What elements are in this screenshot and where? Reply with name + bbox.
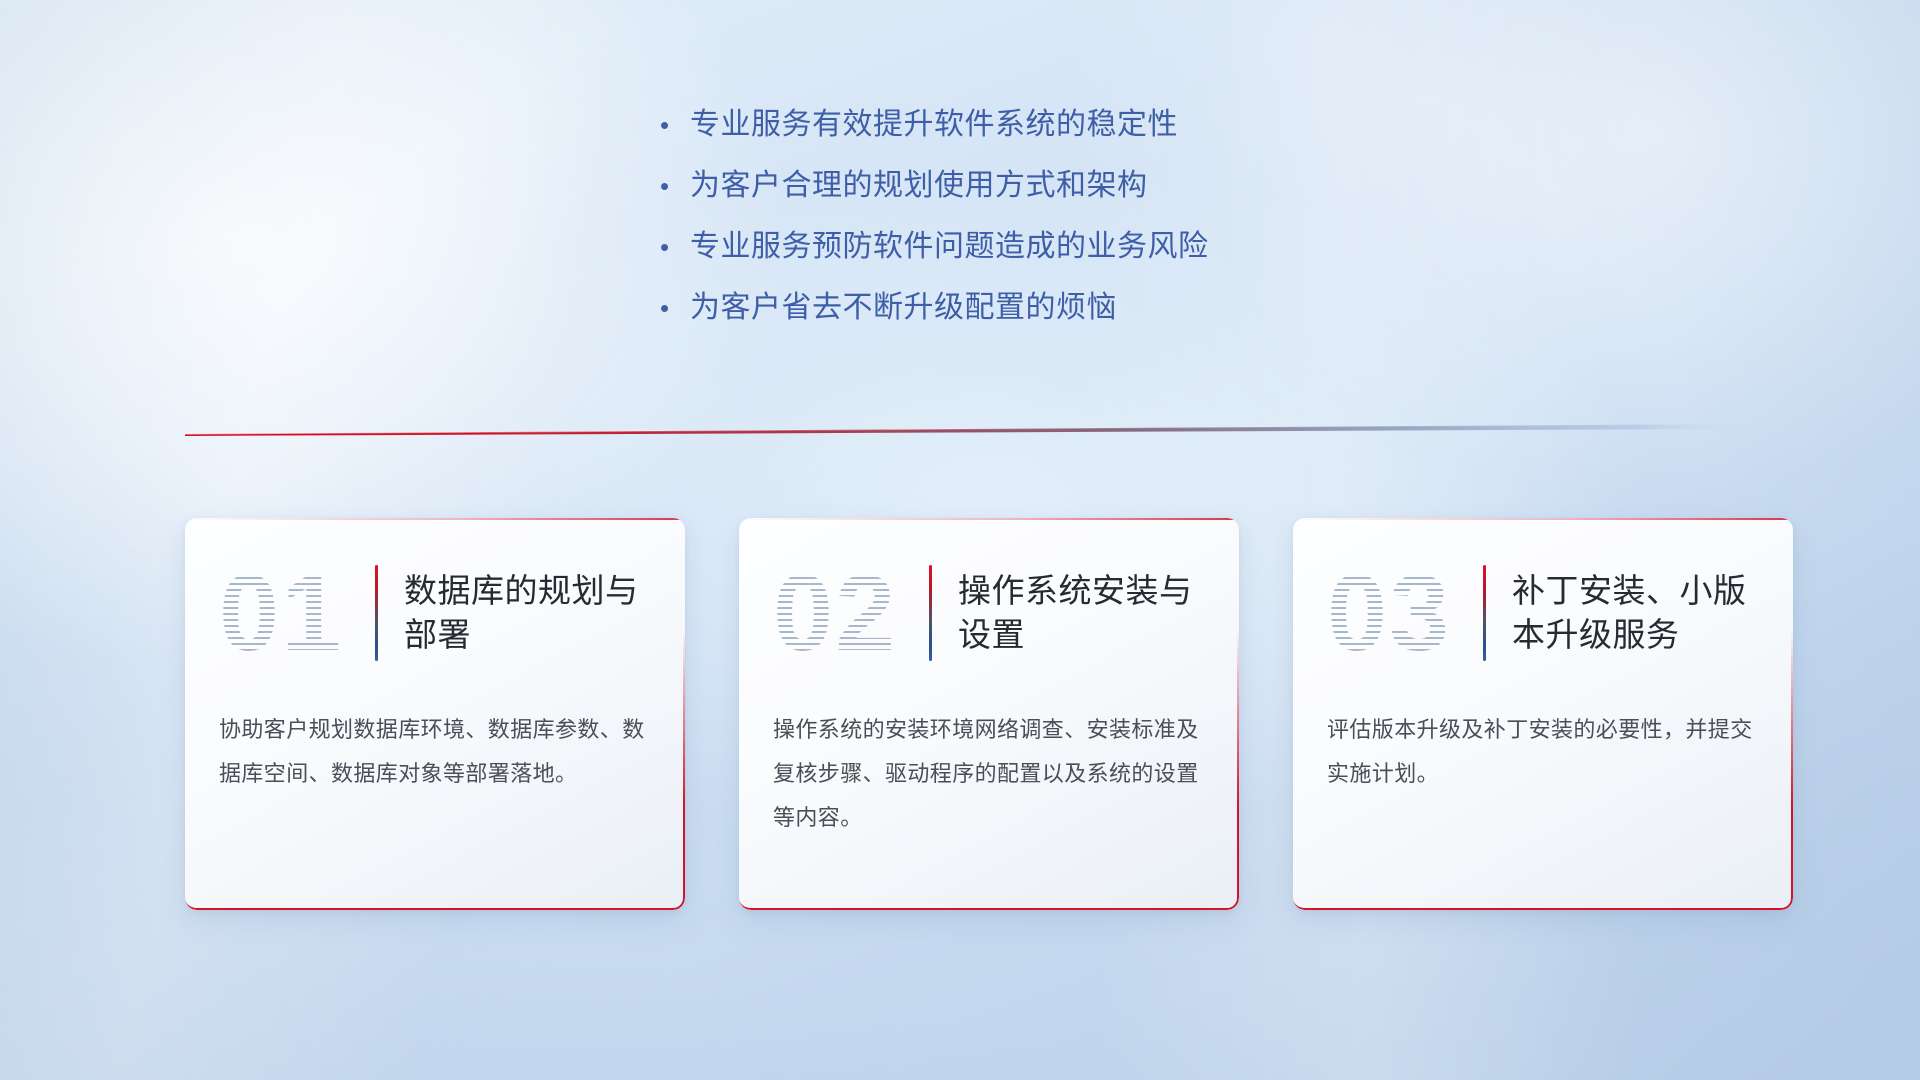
- card-divider-rule: [1483, 565, 1486, 661]
- bullet-dot-icon: •: [660, 112, 690, 138]
- card-divider-rule: [375, 565, 378, 661]
- bullet-dot-icon: •: [660, 295, 690, 321]
- card-header: 01 数据库的规划与部署: [185, 518, 685, 708]
- list-item: • 为客户省去不断升级配置的烦恼: [660, 291, 1209, 324]
- card-body-text: 协助客户规划数据库环境、数据库参数、数据库空间、数据库对象等部署落地。: [185, 708, 685, 796]
- card-body-text: 操作系统的安装环境网络调查、安装标准及复核步骤、驱动程序的配置以及系统的设置等内…: [739, 708, 1239, 840]
- card-title: 操作系统安装与设置: [958, 569, 1213, 657]
- service-card-01[interactable]: 01 数据库的规划与部署 协助客户规划数据库环境、数据库参数、数据库空间、数据库…: [185, 518, 685, 910]
- tapered-arrow-divider: [185, 420, 1730, 442]
- service-card-03[interactable]: 03 补丁安装、小版本升级服务 评估版本升级及补丁安装的必要性，并提交实施计划。: [1293, 518, 1793, 910]
- card-number: 03: [1327, 559, 1479, 667]
- bullet-dot-icon: •: [660, 173, 690, 199]
- bullet-text: 专业服务有效提升软件系统的稳定性: [690, 108, 1178, 141]
- bullet-dot-icon: •: [660, 234, 690, 260]
- card-title: 数据库的规划与部署: [404, 569, 659, 657]
- bullet-text: 为客户省去不断升级配置的烦恼: [690, 291, 1117, 324]
- card-number: 01: [219, 559, 371, 667]
- list-item: • 为客户合理的规划使用方式和架构: [660, 169, 1209, 202]
- card-number: 02: [773, 559, 925, 667]
- list-item: • 专业服务预防软件问题造成的业务风险: [660, 230, 1209, 263]
- list-item: • 专业服务有效提升软件系统的稳定性: [660, 108, 1209, 141]
- card-header: 02 操作系统安装与设置: [739, 518, 1239, 708]
- bullet-list: • 专业服务有效提升软件系统的稳定性 • 为客户合理的规划使用方式和架构 • 专…: [660, 108, 1209, 324]
- card-divider-rule: [929, 565, 932, 661]
- card-title: 补丁安装、小版本升级服务: [1512, 569, 1767, 657]
- card-row: 01 数据库的规划与部署 协助客户规划数据库环境、数据库参数、数据库空间、数据库…: [185, 518, 1795, 910]
- bullet-text: 为客户合理的规划使用方式和架构: [690, 169, 1148, 202]
- card-body-text: 评估版本升级及补丁安装的必要性，并提交实施计划。: [1293, 708, 1793, 796]
- service-card-02[interactable]: 02 操作系统安装与设置 操作系统的安装环境网络调查、安装标准及复核步骤、驱动程…: [739, 518, 1239, 910]
- bullet-text: 专业服务预防软件问题造成的业务风险: [690, 230, 1209, 263]
- card-header: 03 补丁安装、小版本升级服务: [1293, 518, 1793, 708]
